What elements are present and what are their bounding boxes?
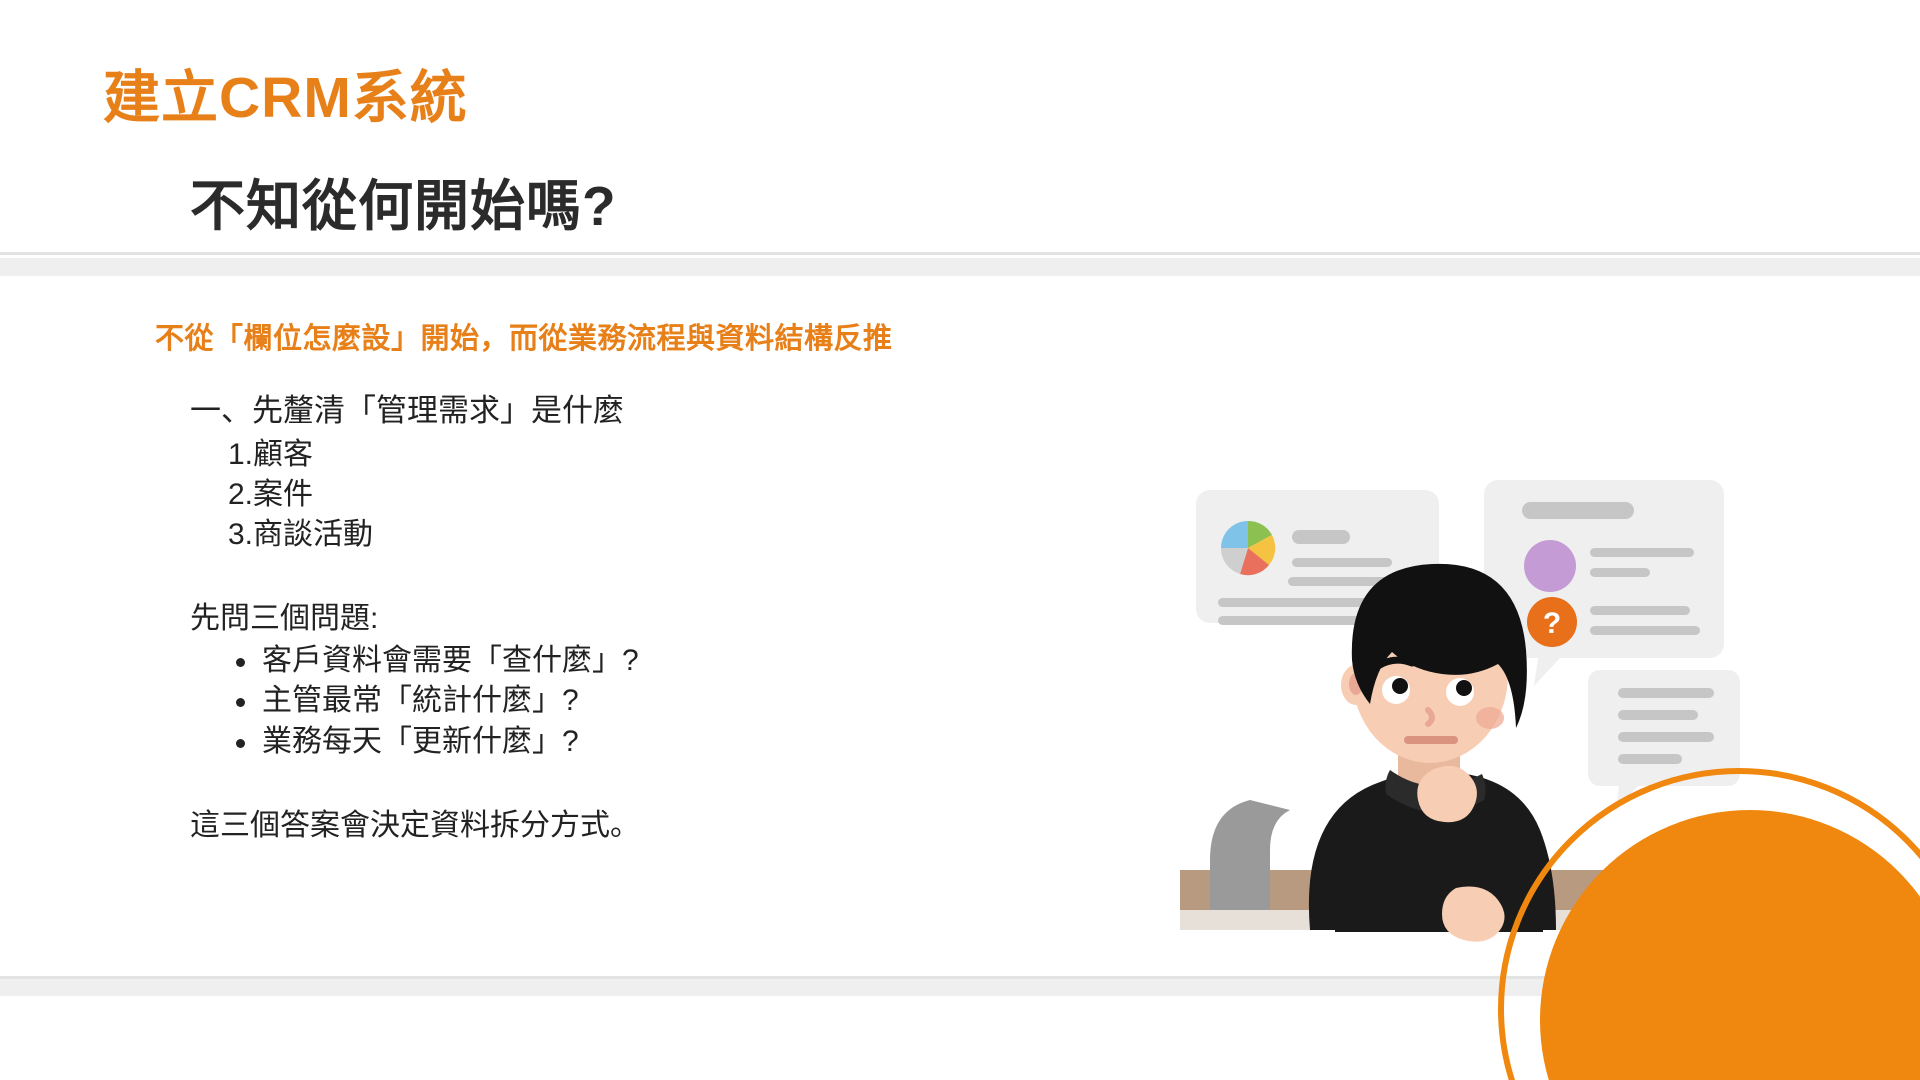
- slide-root: 建立CRM系統 不知從何開始嗎? 不從「欄位怎麼設」開始，而從業務流程與資料結構…: [0, 0, 1920, 1080]
- spacer: [190, 762, 1090, 806]
- bullet-list: 客戶資料會需要「查什麼」? 主管最常「統計什麼」? 業務每天「更新什麼」?: [190, 641, 1090, 763]
- header-divider-thin: [0, 252, 1920, 255]
- list-item: 客戶資料會需要「查什麼」?: [236, 641, 1090, 682]
- svg-text:?: ?: [1543, 607, 1561, 640]
- list-item: 主管最常「統計什麼」?: [236, 681, 1090, 722]
- numbered-list: 1.顧客 2.案件 3.商談活動: [190, 435, 1090, 555]
- list-item: 3.商談活動: [228, 515, 1090, 555]
- page-title-primary: 建立CRM系統: [103, 66, 468, 132]
- list-item: 2.案件: [228, 475, 1090, 515]
- section-heading: 一、先釐清「管理需求」是什麼: [190, 390, 1090, 431]
- slide-header: 建立CRM系統 不知從何開始嗎?: [0, 0, 1920, 262]
- avatar: [1524, 540, 1576, 592]
- closing-statement: 這三個答案會決定資料拆分方式。: [190, 806, 1090, 846]
- spacer: [190, 555, 1090, 599]
- page-title-secondary: 不知從何開始嗎?: [190, 175, 617, 238]
- list-item: 業務每天「更新什麼」?: [236, 722, 1090, 763]
- questions-heading: 先問三個問題:: [190, 599, 1090, 639]
- header-divider-band: [0, 258, 1920, 276]
- content-column: 一、先釐清「管理需求」是什麼 1.顧客 2.案件 3.商談活動 先問三個問題: …: [190, 390, 1090, 846]
- list-item: 1.顧客: [228, 435, 1090, 475]
- lead-statement: 不從「欄位怎麼設」開始，而從業務流程與資料結構反推: [155, 315, 893, 357]
- hand-icon: [1417, 766, 1477, 822]
